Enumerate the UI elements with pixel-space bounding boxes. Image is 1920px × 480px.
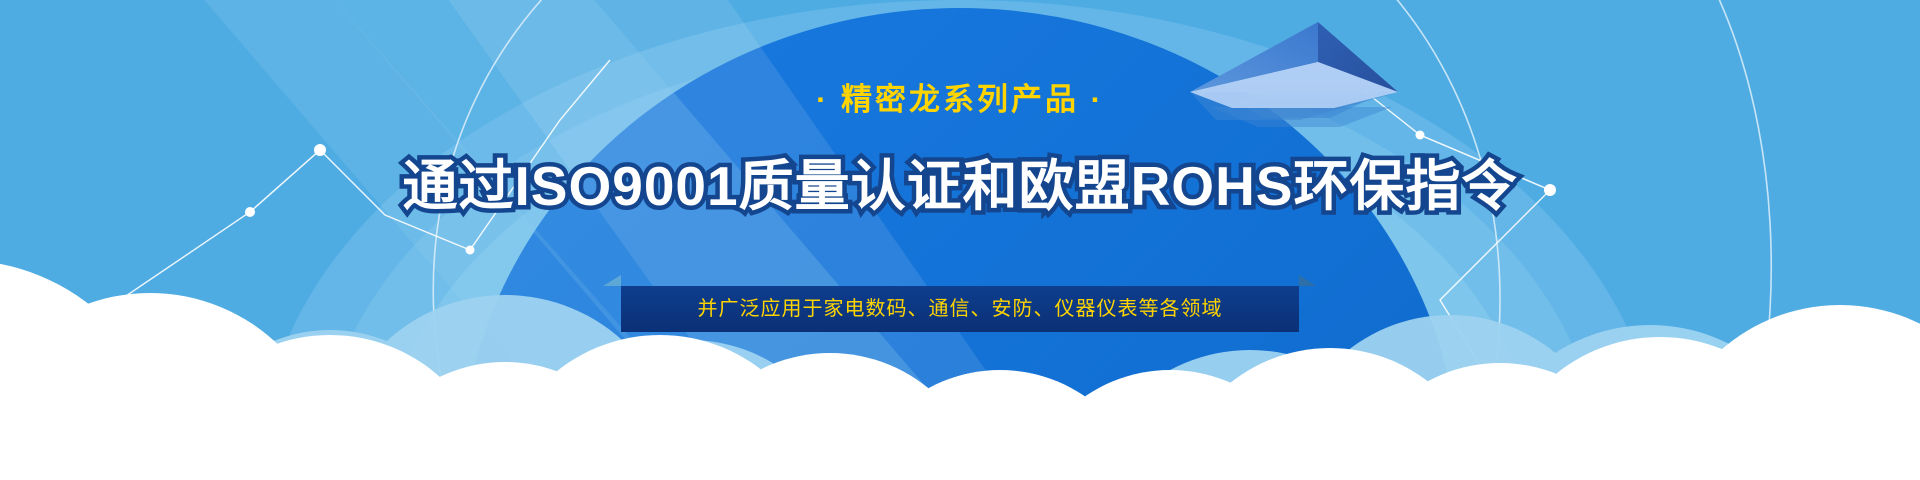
cloud-band (0, 0, 1920, 480)
promo-banner: · 精密龙系列产品 · 通过ISO9001质量认证和欧盟ROHS环保指令 并广泛… (0, 0, 1920, 480)
